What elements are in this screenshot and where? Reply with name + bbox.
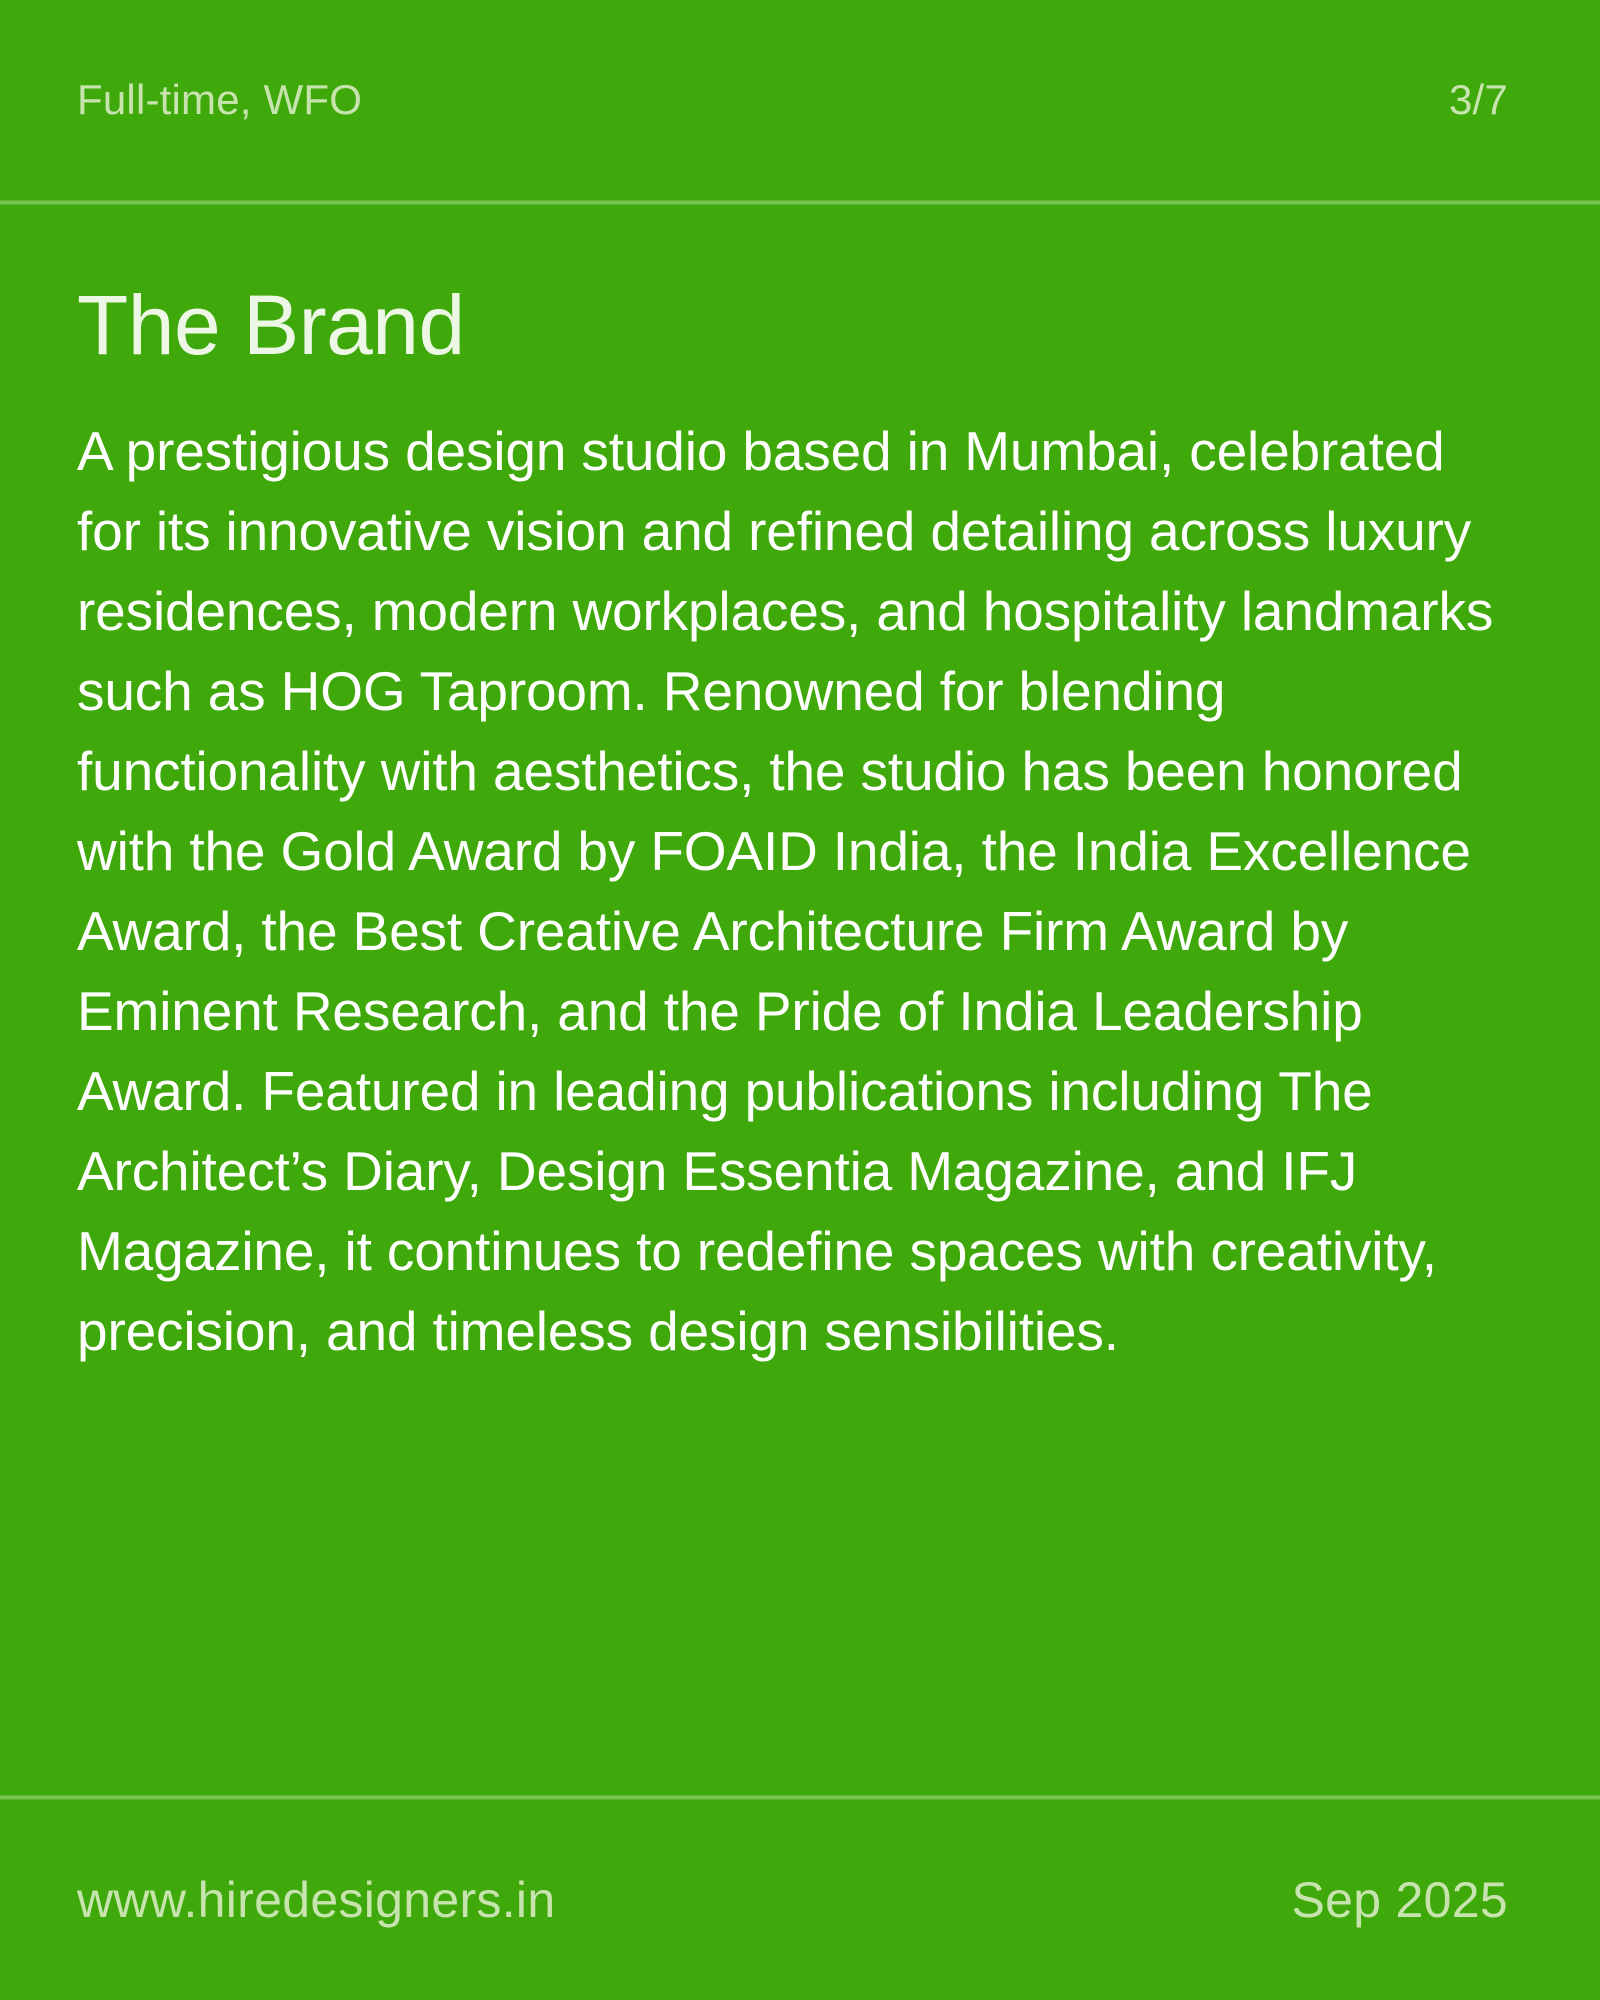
slide-header: Full-time, WFO 3/7 — [0, 0, 1600, 200]
page-title: The Brand — [77, 283, 1520, 369]
date-label: Sep 2025 — [1292, 1875, 1509, 1925]
page-indicator: 3/7 — [1449, 79, 1508, 121]
website-link[interactable]: www.hiredesigners.in — [77, 1875, 555, 1925]
brand-description: A prestigious design studio based in Mum… — [77, 411, 1520, 1371]
slide-main: The Brand A prestigious design studio ba… — [0, 205, 1600, 1795]
slide-root: Full-time, WFO 3/7 The Brand A prestigio… — [0, 0, 1600, 2000]
employment-type-label: Full-time, WFO — [77, 79, 362, 121]
slide-footer: www.hiredesigners.in Sep 2025 — [0, 1800, 1600, 2000]
